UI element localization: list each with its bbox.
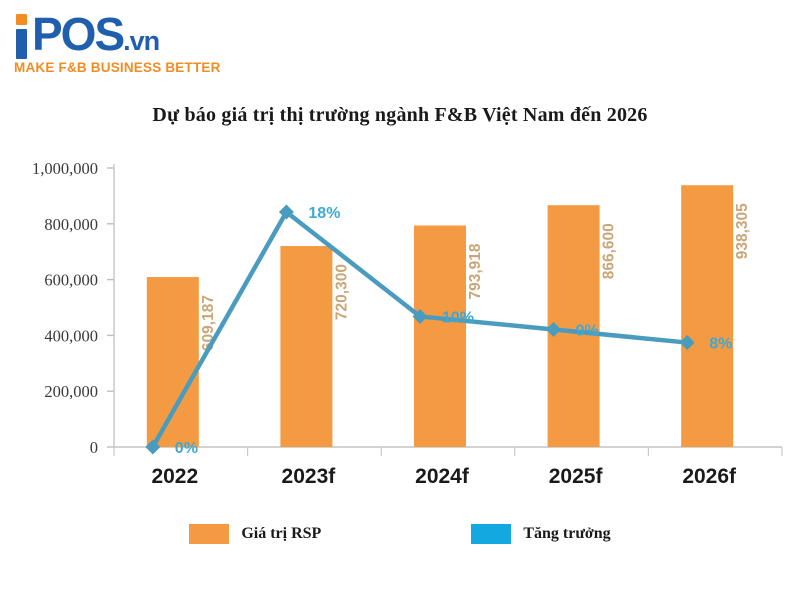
legend-label-rsp: Giá trị RSP xyxy=(241,525,321,543)
bar-value-label: 720,300 xyxy=(333,264,350,320)
x-axis-tick-label: 2026f xyxy=(682,465,737,488)
growth-percent-label: 8% xyxy=(709,336,732,353)
logo-wordmark: POS.vn xyxy=(14,8,244,62)
y-axis-tick-label: 400,000 xyxy=(44,326,98,345)
logo-i-dot-icon xyxy=(16,14,27,25)
x-axis-tick-label: 2022 xyxy=(151,465,198,488)
y-axis-tick-label: 200,000 xyxy=(44,382,98,401)
bar-2024f[interactable] xyxy=(414,225,466,447)
combo-chart: 1,000,000800,000600,000400,000200,0000 6… xyxy=(0,150,800,520)
y-axis-tick-label: 1,000,000 xyxy=(32,159,98,178)
chart-plot-area: 1,000,000800,000600,000400,000200,0000 6… xyxy=(0,150,800,520)
legend-label-growth: Tăng trưởng xyxy=(523,525,610,543)
y-axis-group: 1,000,000800,000600,000400,000200,0000 xyxy=(32,159,114,457)
x-axis-group: 20222023f2024f2025f2026f xyxy=(151,465,737,488)
growth-percent-label: 10% xyxy=(442,309,474,326)
growth-percent-label: 9% xyxy=(576,323,599,340)
logo-brand-main: POS xyxy=(14,8,123,60)
legend-item-growth[interactable]: Tăng trưởng xyxy=(471,524,610,544)
bar-series-group xyxy=(147,185,733,447)
legend-swatch-growth xyxy=(471,524,511,544)
x-axis-tick-label: 2023f xyxy=(282,465,337,488)
legend-swatch-rsp xyxy=(189,524,229,544)
brand-logo: POS.vn MAKE F&B BUSINESS BETTER xyxy=(14,8,244,84)
bar-value-label: 793,918 xyxy=(467,243,484,299)
logo-tagline: MAKE F&B BUSINESS BETTER xyxy=(14,60,244,75)
logo-i-stem-icon xyxy=(16,29,27,59)
chart-legend: Giá trị RSP Tăng trưởng xyxy=(0,524,800,544)
growth-percent-label: 18% xyxy=(308,205,340,222)
x-axis-tick-label: 2025f xyxy=(549,465,604,488)
growth-percent-label: 0% xyxy=(175,440,198,457)
y-axis-tick-label: 0 xyxy=(90,438,98,457)
bar-value-label: 866,600 xyxy=(601,223,618,279)
bar-2026f[interactable] xyxy=(681,185,733,447)
logo-brand-suffix: .vn xyxy=(123,26,159,56)
x-axis-tick-label: 2024f xyxy=(415,465,470,488)
y-axis-tick-label: 600,000 xyxy=(44,271,98,290)
y-axis-tick-label: 800,000 xyxy=(44,215,98,234)
chart-title: Dự báo giá trị thị trường ngành F&B Việt… xyxy=(0,104,800,127)
bar-value-label: 938,305 xyxy=(734,203,751,259)
bar-2022[interactable] xyxy=(147,277,199,447)
bar-2023f[interactable] xyxy=(280,246,332,447)
legend-item-rsp[interactable]: Giá trị RSP xyxy=(189,524,321,544)
